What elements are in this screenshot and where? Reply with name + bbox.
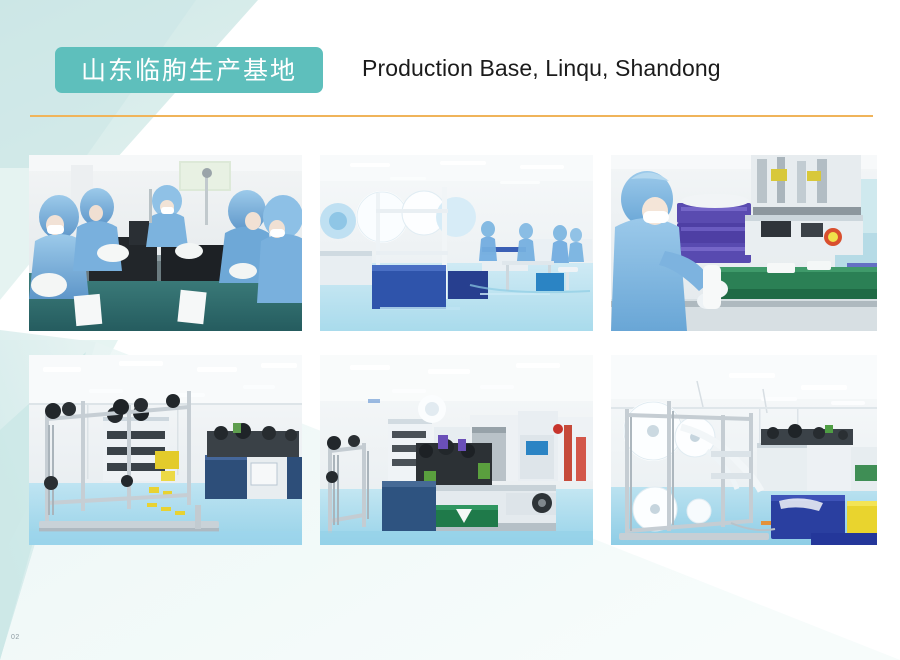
page-number: 02 (11, 634, 20, 641)
photo-fabric-roll-stands-crates (611, 355, 877, 545)
page-title-english: Production Base, Linqu, Shandong (362, 55, 721, 82)
title-badge: 山东临朐生产基地 (55, 47, 323, 93)
header-divider (30, 115, 873, 117)
photo-production-line-workers-sewing (29, 155, 302, 331)
slide-page: 山东临朐生产基地 Production Base, Linqu, Shandon… (0, 0, 900, 660)
photo-operator-at-conveyor (611, 155, 877, 331)
photo-cleanroom-gantry-equipment (29, 355, 302, 545)
photo-grid (29, 155, 877, 545)
photo-automated-packaging-line (320, 355, 593, 545)
title-badge-label: 山东临朐生产基地 (81, 58, 297, 83)
slide-header: 山东临朐生产基地 Production Base, Linqu, Shandon… (0, 0, 900, 130)
photo-cleanroom-mask-machines (320, 155, 593, 331)
